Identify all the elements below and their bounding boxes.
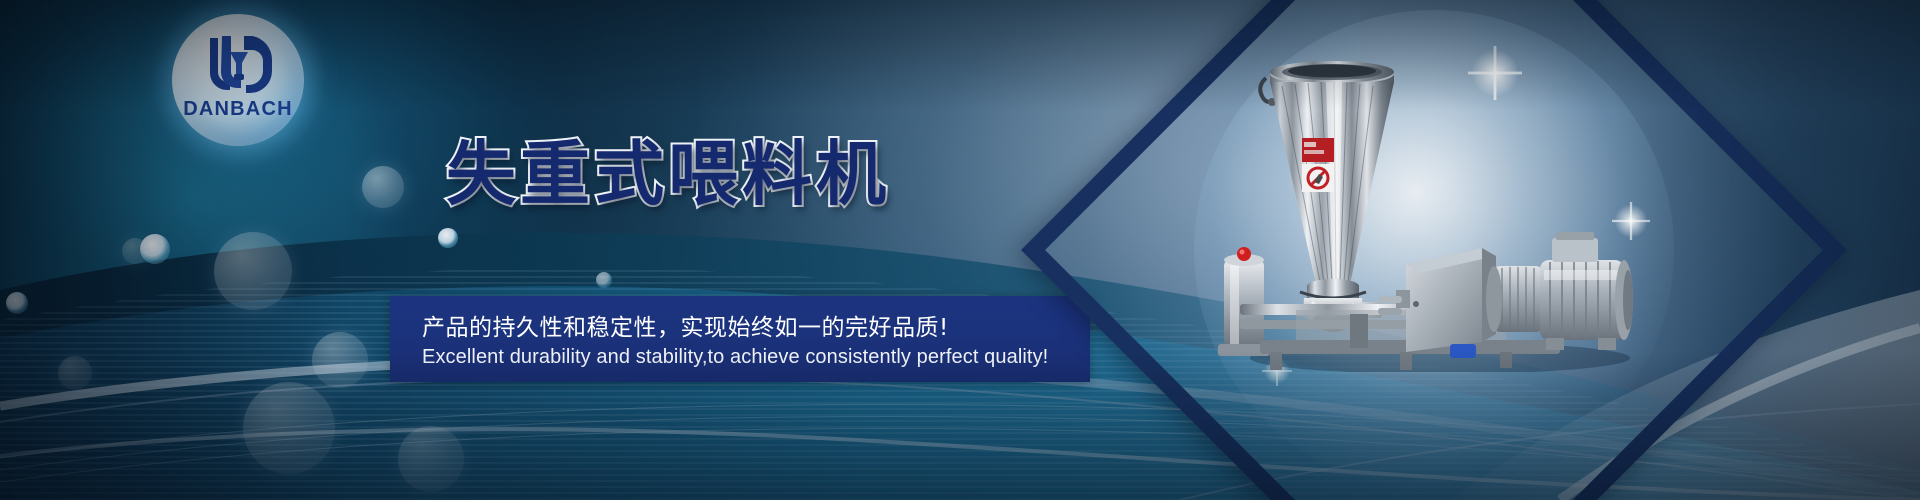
- promo-banner: DANBACH 失重式喂料机 产品的持久性和稳定性，实现始终如一的完好品质! E…: [0, 0, 1920, 500]
- vignette-overlay: [0, 0, 1920, 500]
